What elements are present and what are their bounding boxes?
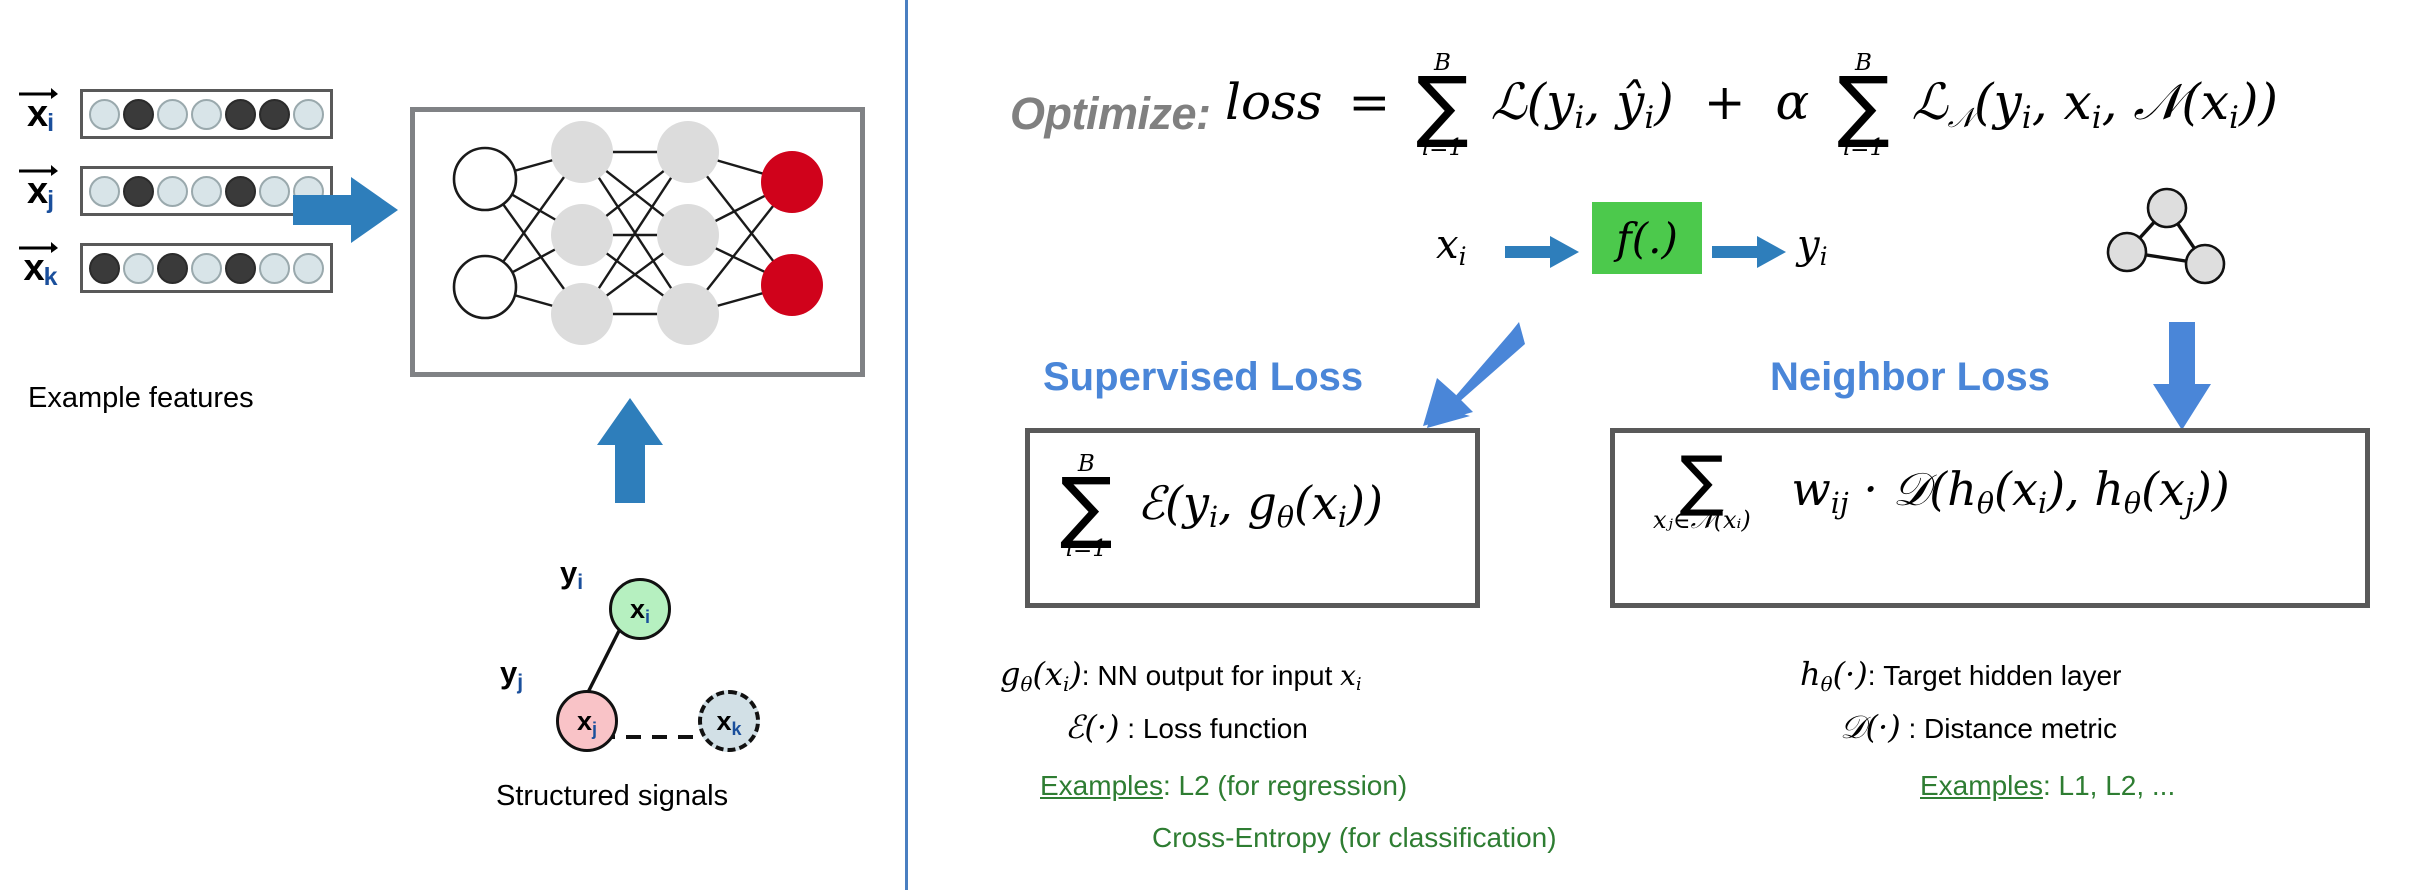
legend-separator: : bbox=[1127, 713, 1135, 744]
vector-symbol-i: xi bbox=[8, 82, 74, 146]
feature-cell bbox=[157, 99, 188, 130]
legend-text: Distance metric bbox=[1924, 713, 2117, 744]
hidden-node bbox=[657, 283, 719, 345]
up-arrow-icon bbox=[595, 398, 665, 503]
vector-symbol-base: x bbox=[27, 172, 48, 210]
legend-math: gθ(xi) bbox=[1000, 655, 1082, 693]
output-node bbox=[761, 151, 823, 213]
right-arrow-icon bbox=[293, 175, 398, 245]
feature-cell bbox=[225, 176, 256, 207]
neighbor-legend-line-1: hθ(·): Target hidden layer bbox=[1800, 655, 2121, 693]
vector-symbol-base: x bbox=[27, 95, 48, 133]
feature-cell bbox=[157, 253, 188, 284]
feature-cell bbox=[259, 253, 290, 284]
supervised-legend-line-1: gθ(xi): NN output for input xi bbox=[1000, 655, 1362, 693]
supervised-term: ℒ(yi, ŷi) bbox=[1491, 73, 1674, 131]
neighbor-loss-box: ∑ xⱼ∈𝒩(xᵢ) wij · 𝒟(hθ(xi), hθ(xj)) bbox=[1610, 428, 2370, 608]
sum-lower-limit: i=1 bbox=[1843, 137, 1884, 160]
sum-lower-limit: i=1 bbox=[1066, 538, 1107, 561]
graph-node-xi: xi bbox=[609, 578, 671, 640]
feature-cell bbox=[259, 176, 290, 207]
neural-network-diagram bbox=[410, 107, 865, 377]
supervised-legend-line-2: ℰ(·) : Loss function bbox=[1065, 708, 1308, 746]
legend-separator: : bbox=[1908, 713, 1916, 744]
graph-node-xi-label: xi bbox=[630, 594, 650, 625]
graph-node-xj: xj bbox=[556, 690, 618, 752]
neighbor-examples-line-1: Examples: L1, L2, ... bbox=[1920, 770, 2175, 802]
feature-cell bbox=[225, 253, 256, 284]
down-left-arrow-icon bbox=[1415, 322, 1525, 432]
feature-cell bbox=[191, 253, 222, 284]
legend-separator: : bbox=[1082, 660, 1090, 691]
right-arrow-icon bbox=[1712, 235, 1786, 269]
legend-text: Target hidden layer bbox=[1883, 660, 2121, 691]
supervised-examples-line-1: Examples: L2 (for regression) bbox=[1040, 770, 1407, 802]
legend-separator: : bbox=[1868, 660, 1876, 691]
feature-cell bbox=[157, 176, 188, 207]
neighbor-summation: ∑ xⱼ∈𝒩(xᵢ) bbox=[1653, 455, 1751, 532]
summation-2: B ∑ i=1 bbox=[1837, 52, 1890, 160]
vector-arrow-icon bbox=[18, 86, 58, 99]
plus-sign: + bbox=[1704, 73, 1746, 131]
structured-signals-graph bbox=[490, 520, 810, 760]
input-node bbox=[454, 148, 516, 210]
supervised-loss-expression: ℰ(yi, gθ(xi)) bbox=[1137, 476, 1383, 530]
examples-text-1: : L2 (for regression) bbox=[1163, 770, 1407, 801]
function-box: f(.) bbox=[1592, 202, 1702, 274]
neighbor-term: ℒ𝒩(yi, xi, 𝒩(xi)) bbox=[1912, 73, 2278, 131]
feature-cell bbox=[191, 176, 222, 207]
legend-math: hθ(·) bbox=[1800, 655, 1868, 693]
feature-cell bbox=[123, 99, 154, 130]
graph-node-xj-y-label: yj bbox=[500, 655, 523, 691]
vector-symbol-subscript: k bbox=[44, 263, 58, 292]
vector-symbol-j: xj bbox=[8, 159, 74, 223]
structured-signals-caption: Structured signals bbox=[496, 780, 728, 813]
feature-cell bbox=[89, 253, 120, 284]
neighbor-legend-line-2: 𝒟(·) : Distance metric bbox=[1840, 708, 2117, 747]
feature-cell bbox=[123, 253, 154, 284]
hidden-node bbox=[657, 121, 719, 183]
legend-text: NN output for input xi bbox=[1097, 660, 1361, 691]
down-arrow-icon bbox=[2152, 322, 2212, 432]
vector-symbol-base: x bbox=[23, 249, 44, 287]
feature-cell bbox=[259, 99, 290, 130]
neighbor-loss-heading: Neighbor Loss bbox=[1770, 355, 2050, 400]
optimize-label: Optimize: bbox=[1010, 88, 1211, 140]
neighbor-loss-expression: wij · 𝒟(hθ(xi), hθ(xj)) bbox=[1791, 462, 2229, 516]
equals-sign: = bbox=[1348, 73, 1390, 131]
legend-text: Loss function bbox=[1143, 713, 1308, 744]
feature-row-i: xi bbox=[8, 82, 333, 146]
loss-lhs: loss bbox=[1225, 73, 1322, 131]
feature-cell bbox=[225, 99, 256, 130]
output-node bbox=[761, 254, 823, 316]
supervised-examples-line-2: Cross-Entropy (for classification) bbox=[1152, 822, 1557, 854]
alpha-symbol: α bbox=[1776, 73, 1810, 131]
supervised-summation: B ∑ i=1 bbox=[1060, 453, 1113, 561]
legend-math: 𝒟(·) bbox=[1840, 708, 1901, 746]
feature-cell bbox=[191, 99, 222, 130]
supervised-loss-box: B ∑ i=1 ℰ(yi, gθ(xi)) bbox=[1025, 428, 1480, 608]
examples-label: Examples bbox=[1920, 770, 2043, 801]
right-arrow-icon bbox=[1505, 235, 1579, 269]
feature-cell bbox=[293, 99, 324, 130]
feature-vector-box-i bbox=[80, 89, 333, 139]
main-loss-equation: loss = B ∑ i=1 ℒ(yi, ŷi) + α B ∑ i=1 ℒ𝒩(… bbox=[1225, 52, 2278, 160]
graph-node-xi-y-label: yi bbox=[560, 555, 583, 591]
feature-cell bbox=[293, 253, 324, 284]
function-box-label: f(.) bbox=[1616, 214, 1678, 263]
feature-cell bbox=[89, 176, 120, 207]
feature-cell bbox=[89, 99, 120, 130]
hidden-node bbox=[551, 204, 613, 266]
legend-math: ℰ(·) bbox=[1065, 708, 1120, 746]
feature-vector-box-k bbox=[80, 243, 333, 293]
graph-node-xk-label: xk bbox=[716, 706, 741, 737]
panel-divider bbox=[905, 0, 908, 890]
vector-symbol-k: xk bbox=[8, 236, 74, 300]
example-features-caption: Example features bbox=[28, 382, 254, 415]
graph-node-xj-label: xj bbox=[577, 706, 597, 737]
feature-cell bbox=[123, 176, 154, 207]
pipeline-input-label: xi bbox=[1436, 222, 1467, 268]
hidden-node bbox=[657, 204, 719, 266]
triangle-graph-icon bbox=[2105, 180, 2235, 290]
vector-symbol-subscript: i bbox=[47, 109, 54, 138]
pipeline-output-label: yi bbox=[1797, 222, 1828, 268]
supervised-loss-heading: Supervised Loss bbox=[1043, 355, 1363, 400]
hidden-node bbox=[551, 283, 613, 345]
vector-symbol-subscript: j bbox=[47, 186, 54, 215]
input-node bbox=[454, 256, 516, 318]
graph-node-xk: xk bbox=[698, 690, 760, 752]
vector-arrow-icon bbox=[18, 240, 58, 253]
vector-arrow-icon bbox=[18, 163, 58, 176]
sum-lower-limit: xⱼ∈𝒩(xᵢ) bbox=[1653, 508, 1751, 532]
sum-lower-limit: i=1 bbox=[1422, 137, 1463, 160]
hidden-node bbox=[551, 121, 613, 183]
examples-text-1: : L1, L2, ... bbox=[2043, 770, 2175, 801]
summation-1: B ∑ i=1 bbox=[1416, 52, 1469, 160]
examples-label: Examples bbox=[1040, 770, 1163, 801]
feature-row-j: xj bbox=[8, 159, 333, 223]
feature-row-k: xk bbox=[8, 236, 333, 300]
